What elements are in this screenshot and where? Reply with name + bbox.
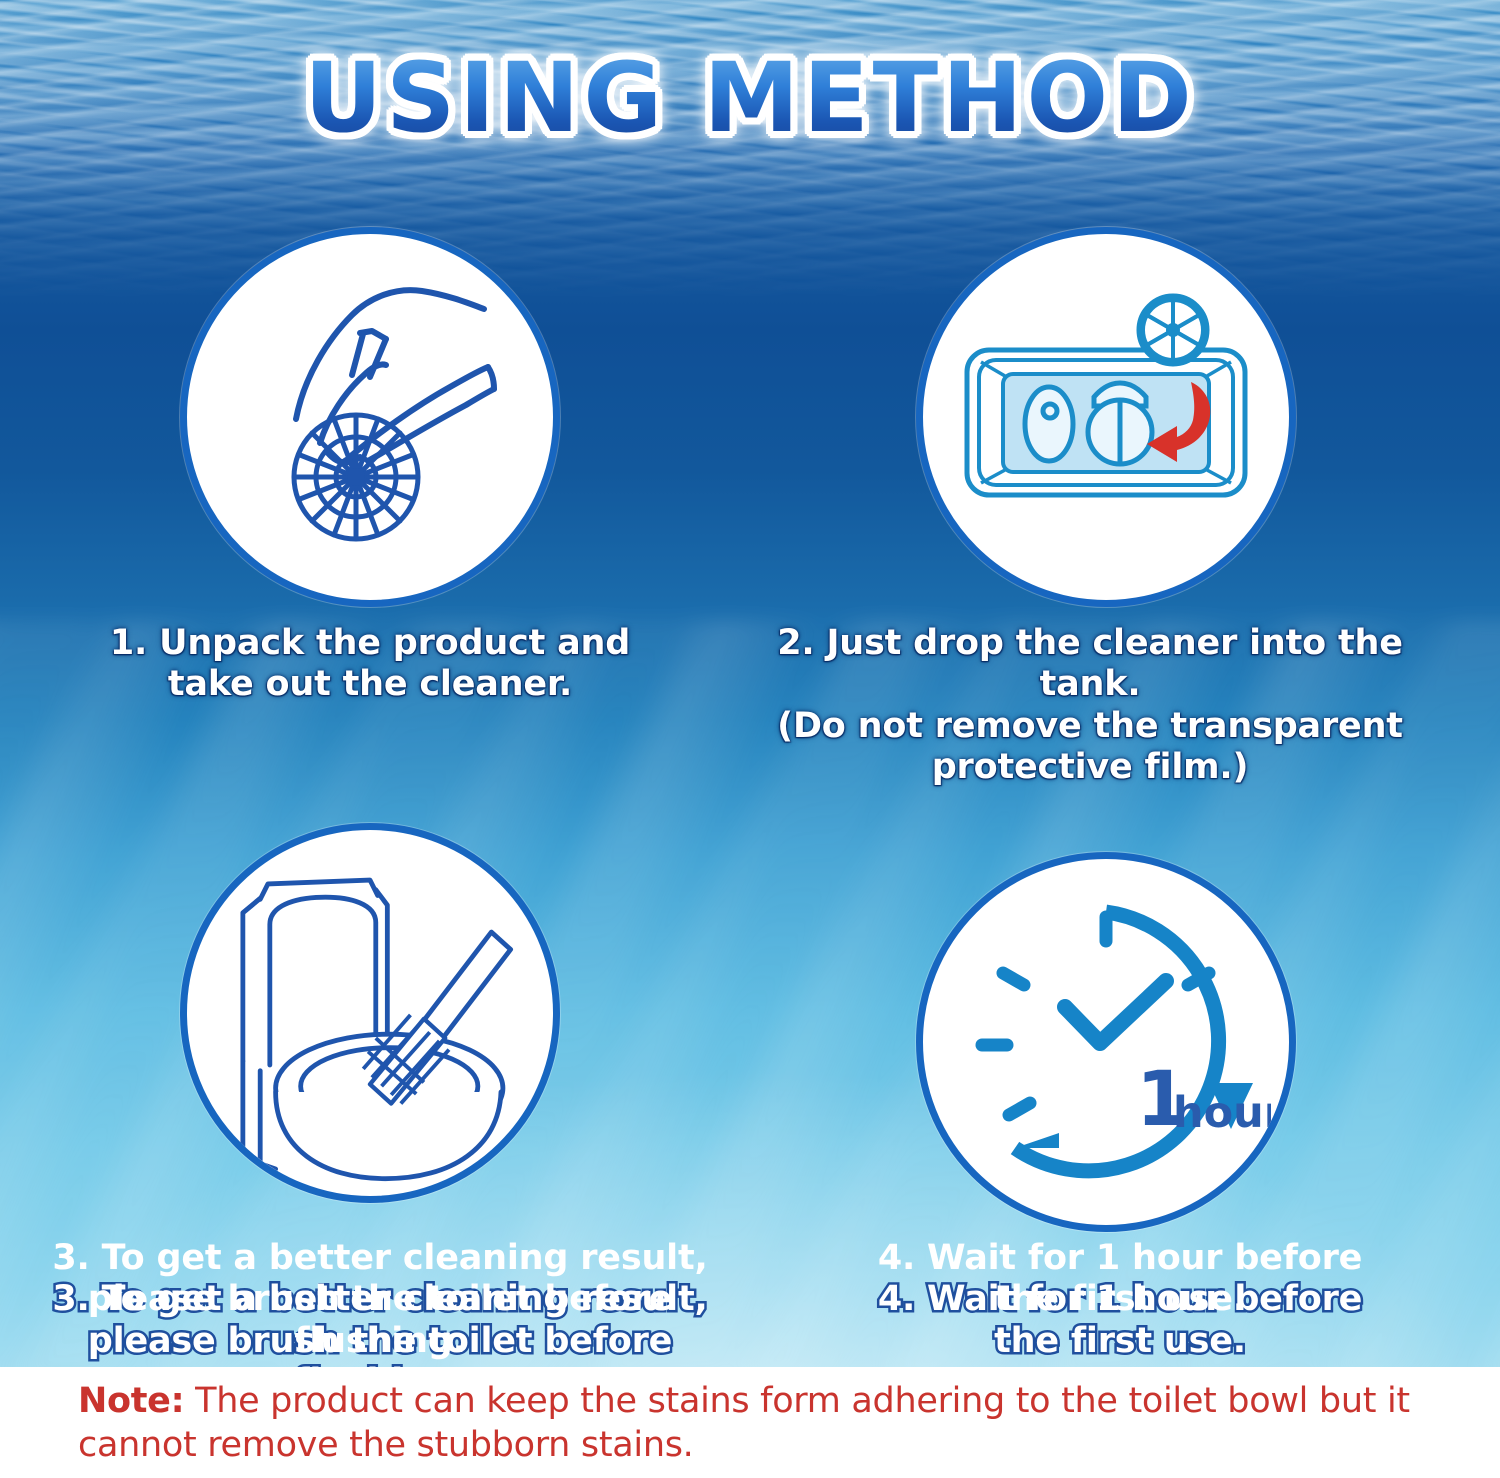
clock-hour-unit: hour: [1173, 1088, 1271, 1138]
dual-flush-button-icon: [1088, 383, 1152, 464]
step-1-caption: 1. Unpack the product and take out the c…: [60, 623, 680, 706]
page-title: USING METHOD: [304, 48, 1196, 149]
step-4-icon-circle: 1 hour: [916, 852, 1296, 1232]
toilet-tank-drop-cleaner-icon: [941, 252, 1271, 582]
step-3-icon-circle: [180, 823, 560, 1203]
step-1-icon-circle: [180, 227, 560, 607]
steps-grid: 1. Unpack the product and take out the c…: [0, 0, 1500, 1367]
hand-unpacking-cleaner-icon: [200, 247, 540, 587]
tank-float-icon: [1025, 387, 1073, 461]
cleaner-tablet-icon: [1139, 296, 1207, 364]
step-2-caption: 2. Just drop the cleaner into the tank. …: [730, 623, 1450, 788]
step-2-icon-circle: [916, 227, 1296, 607]
page-title-container: USING METHOD: [0, 48, 1500, 149]
using-method-poster: USING METHOD: [0, 0, 1500, 1478]
toilet-brush-icon: [187, 823, 553, 1203]
note-label: Note:: [78, 1381, 184, 1421]
caption-fill-layer: 3. To get a better cleaning result, plea…: [20, 1238, 740, 1362]
cleaner-tablet-mesh: [294, 415, 418, 539]
clock-one-hour-icon: 1 hour: [941, 877, 1271, 1207]
note-bar: Note: The product can keep the stains fo…: [0, 1367, 1500, 1478]
note-text: Note: The product can keep the stains fo…: [78, 1379, 1458, 1467]
note-body: The product can keep the stains form adh…: [78, 1381, 1410, 1465]
step-4-caption: 4. Wait for 1 hour before the first use.…: [840, 1238, 1400, 1362]
clock-hands: [1065, 981, 1166, 1043]
caption-fill-layer: 4. Wait for 1 hour before the first use.: [840, 1238, 1400, 1321]
